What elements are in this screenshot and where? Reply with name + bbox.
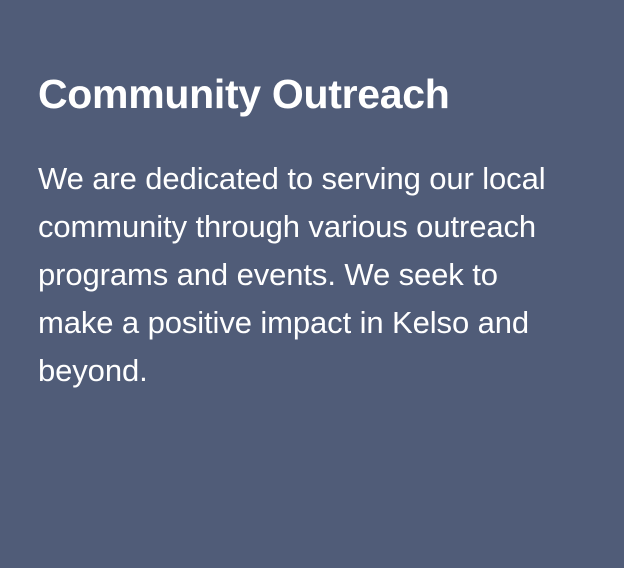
page-title: Community Outreach [38, 68, 586, 120]
text-content-block: Community Outreach We are dedicated to s… [38, 68, 586, 395]
community-outreach-panel: Community Outreach We are dedicated to s… [0, 0, 624, 568]
section-description: We are dedicated to serving our local co… [38, 155, 578, 395]
